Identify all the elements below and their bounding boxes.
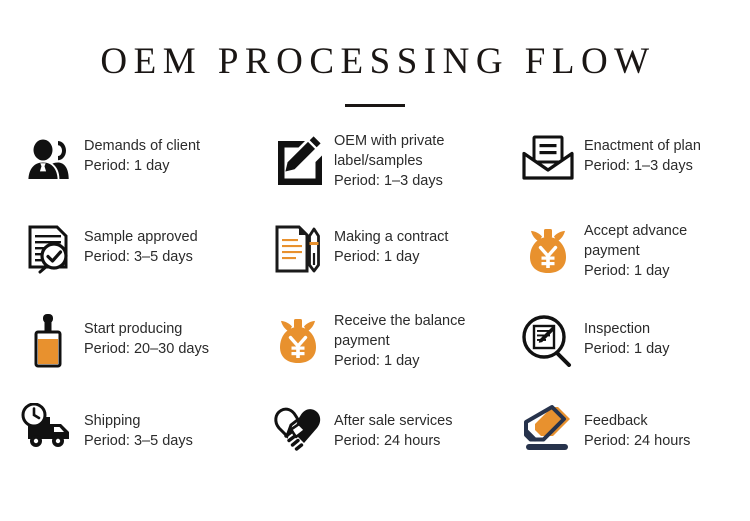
step-title: Feedback <box>584 411 690 431</box>
step-item-enactment-of-plan: Enactment of plan Period: 1–3 days <box>500 131 750 221</box>
step-item-sample-approved: Sample approved Period: 3–5 days <box>0 221 250 311</box>
dropper-bottle-icon <box>18 311 78 373</box>
magnifier-checklist-icon <box>518 311 578 373</box>
step-period: Period: 3–5 days <box>84 431 193 451</box>
step-item-start-producing: Start producing Period: 20–30 days <box>0 311 250 401</box>
step-title: Sample approved <box>84 227 198 247</box>
step-title: Inspection <box>584 319 669 339</box>
step-item-accept-advance-payment: Accept advance payment Period: 1 day <box>500 221 750 311</box>
envelope-document-icon <box>518 131 578 193</box>
step-period: Period: 1 day <box>334 247 448 267</box>
step-period: Period: 1–3 days <box>334 171 444 191</box>
contract-pen-icon <box>268 221 328 283</box>
step-title-cont: payment <box>584 241 687 261</box>
step-period: Period: 1 day <box>584 339 669 359</box>
step-item-after-sale-services: After sale services Period: 24 hours <box>250 401 500 491</box>
pencil-feedback-icon <box>518 401 578 463</box>
step-item-demands-of-client: Demands of client Period: 1 day <box>0 131 250 221</box>
step-period: Period: 24 hours <box>584 431 690 451</box>
people-icon <box>18 131 78 193</box>
money-bag-yen-icon <box>268 311 328 373</box>
truck-clock-icon <box>18 401 78 463</box>
step-title: Demands of client <box>84 136 200 156</box>
step-title: Shipping <box>84 411 193 431</box>
step-item-inspection: Inspection Period: 1 day <box>500 311 750 401</box>
step-title-cont: payment <box>334 331 465 351</box>
step-period: Period: 1 day <box>584 261 687 281</box>
step-period: Period: 20–30 days <box>84 339 209 359</box>
step-labels: Shipping Period: 3–5 days <box>78 401 193 451</box>
title-divider <box>345 104 405 107</box>
step-labels: Inspection Period: 1 day <box>578 311 669 359</box>
step-title: Making a contract <box>334 227 448 247</box>
step-item-receive-balance-payment: Receive the balance payment Period: 1 da… <box>250 311 500 401</box>
money-bag-yen-icon <box>518 221 578 283</box>
step-labels: Feedback Period: 24 hours <box>578 401 690 451</box>
step-item-making-a-contract: Making a contract Period: 1 day <box>250 221 500 311</box>
document-check-magnifier-icon <box>18 221 78 283</box>
step-title: Accept advance <box>584 221 687 241</box>
steps-grid: Demands of client Period: 1 day OEM with… <box>0 131 750 491</box>
step-item-feedback: Feedback Period: 24 hours <box>500 401 750 491</box>
step-title-cont: label/samples <box>334 151 444 171</box>
step-labels: Making a contract Period: 1 day <box>328 221 448 267</box>
step-labels: Accept advance payment Period: 1 day <box>578 221 687 281</box>
step-item-shipping: Shipping Period: 3–5 days <box>0 401 250 491</box>
step-title: After sale services <box>334 411 452 431</box>
step-period: Period: 1 day <box>334 351 465 371</box>
step-title: Receive the balance <box>334 311 465 331</box>
step-labels: Demands of client Period: 1 day <box>78 131 200 176</box>
header: OEM PROCESSING FLOW <box>0 0 750 107</box>
handshake-heart-icon <box>268 401 328 463</box>
step-item-oem-private-label: OEM with private label/samples Period: 1… <box>250 131 500 221</box>
step-period: Period: 1–3 days <box>584 156 701 176</box>
edit-square-icon <box>268 131 328 193</box>
step-title: Enactment of plan <box>584 136 701 156</box>
step-period: Period: 24 hours <box>334 431 452 451</box>
step-labels: Sample approved Period: 3–5 days <box>78 221 198 267</box>
step-labels: After sale services Period: 24 hours <box>328 401 452 451</box>
oem-processing-flow-page: OEM PROCESSING FLOW Demands of client Pe… <box>0 0 750 521</box>
page-title: OEM PROCESSING FLOW <box>0 42 750 83</box>
step-labels: Receive the balance payment Period: 1 da… <box>328 311 465 371</box>
step-title: OEM with private <box>334 131 444 151</box>
step-title: Start producing <box>84 319 209 339</box>
step-period: Period: 1 day <box>84 156 200 176</box>
step-labels: Enactment of plan Period: 1–3 days <box>578 131 701 176</box>
step-labels: OEM with private label/samples Period: 1… <box>328 131 444 191</box>
step-period: Period: 3–5 days <box>84 247 198 267</box>
step-labels: Start producing Period: 20–30 days <box>78 311 209 359</box>
